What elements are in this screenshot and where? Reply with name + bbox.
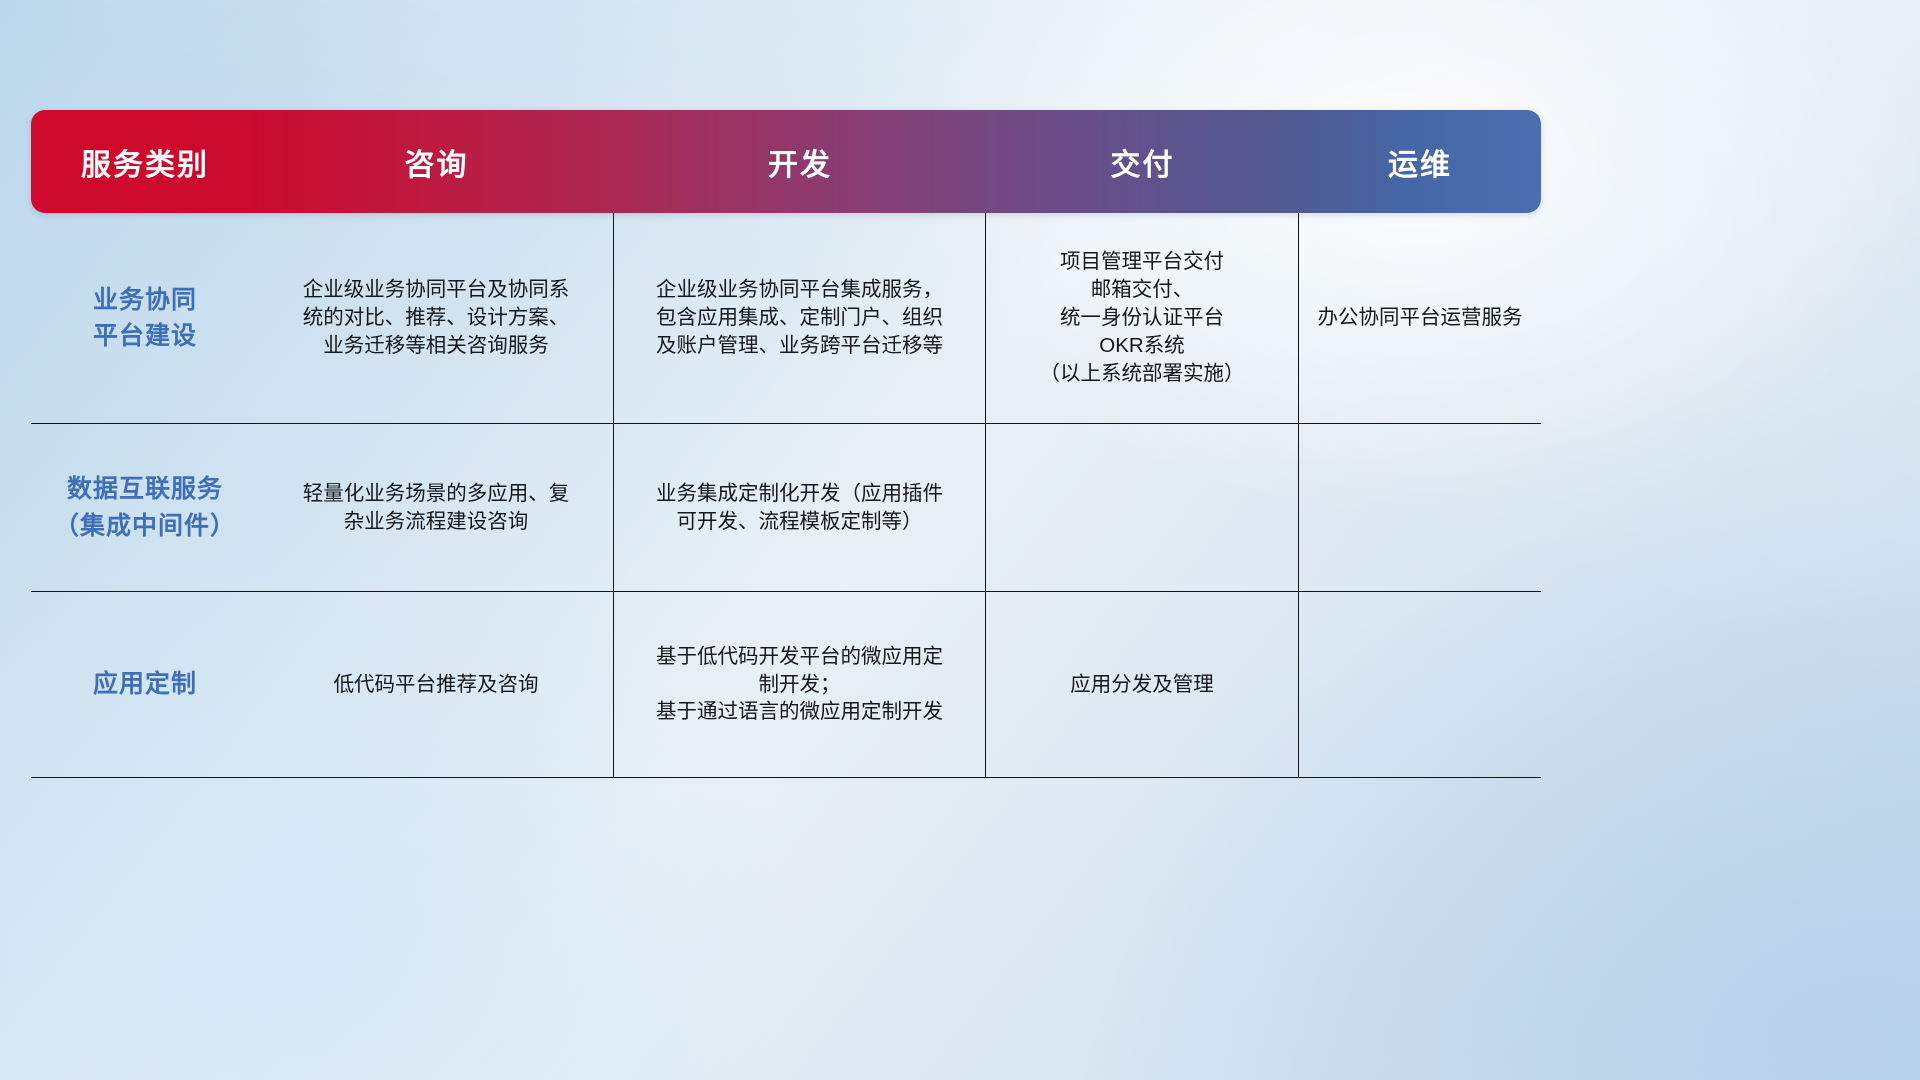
cell-text: 业务集成定制化开发（应用插件可开发、流程模板定制等）	[656, 480, 943, 536]
cell-text: 企业级业务协同平台集成服务，包含应用集成、定制门户、组织及账户管理、业务跨平台迁…	[656, 276, 943, 360]
cell-row3-delivery: 应用分发及管理	[986, 592, 1299, 777]
row-label-text: 数据互联服务（集成中间件）	[54, 471, 236, 544]
cell-text: 低代码平台推荐及咨询	[334, 671, 539, 699]
table-row: 应用定制 低代码平台推荐及咨询 基于低代码开发平台的微应用定制开发；基于通过语言…	[31, 592, 1541, 778]
cell-text: 应用分发及管理	[1070, 671, 1214, 699]
cell-text: 办公协同平台运营服务	[1318, 304, 1523, 332]
column-header-operations: 运维	[1299, 110, 1541, 213]
column-header-consulting: 咨询	[259, 110, 614, 213]
row-label-business-collaboration: 业务协同平台建设	[31, 213, 259, 423]
cell-text: 轻量化业务场景的多应用、复杂业务流程建设咨询	[303, 480, 570, 536]
column-header-category-label: 服务类别	[81, 140, 209, 184]
cell-row1-development: 企业级业务协同平台集成服务，包含应用集成、定制门户、组织及账户管理、业务跨平台迁…	[614, 213, 986, 423]
cell-row2-operations	[1299, 424, 1541, 591]
column-header-consulting-label: 咨询	[405, 140, 469, 184]
cell-text: 企业级业务协同平台及协同系统的对比、推荐、设计方案、业务迁移等相关咨询服务	[303, 276, 570, 360]
cell-text: 项目管理平台交付邮箱交付、统一身份认证平台OKR系统（以上系统部署实施）	[1040, 248, 1245, 387]
cell-row3-development: 基于低代码开发平台的微应用定制开发；基于通过语言的微应用定制开发	[614, 592, 986, 777]
row-label-data-interconnect: 数据互联服务（集成中间件）	[31, 424, 259, 591]
cell-row3-operations	[1299, 592, 1541, 777]
cell-row1-consulting: 企业级业务协同平台及协同系统的对比、推荐、设计方案、业务迁移等相关咨询服务	[259, 213, 614, 423]
column-header-operations-label: 运维	[1388, 140, 1452, 184]
cell-row2-delivery	[986, 424, 1299, 591]
row-label-text: 业务协同平台建设	[93, 282, 197, 355]
cell-row2-development: 业务集成定制化开发（应用插件可开发、流程模板定制等）	[614, 424, 986, 591]
column-header-category: 服务类别	[31, 110, 259, 213]
cell-row3-consulting: 低代码平台推荐及咨询	[259, 592, 614, 777]
cell-row1-operations: 办公协同平台运营服务	[1299, 213, 1541, 423]
row-label-application-customization: 应用定制	[31, 592, 259, 777]
cell-row2-consulting: 轻量化业务场景的多应用、复杂业务流程建设咨询	[259, 424, 614, 591]
cell-text: 基于低代码开发平台的微应用定制开发；基于通过语言的微应用定制开发	[656, 643, 943, 727]
cell-row1-delivery: 项目管理平台交付邮箱交付、统一身份认证平台OKR系统（以上系统部署实施）	[986, 213, 1299, 423]
table-row: 业务协同平台建设 企业级业务协同平台及协同系统的对比、推荐、设计方案、业务迁移等…	[31, 213, 1541, 424]
table-header-row: 服务类别 咨询 开发 交付 运维	[31, 110, 1541, 213]
row-label-text: 应用定制	[93, 666, 197, 702]
table-row: 数据互联服务（集成中间件） 轻量化业务场景的多应用、复杂业务流程建设咨询 业务集…	[31, 424, 1541, 592]
column-header-development-label: 开发	[768, 140, 832, 184]
table-body: 业务协同平台建设 企业级业务协同平台及协同系统的对比、推荐、设计方案、业务迁移等…	[31, 213, 1541, 775]
service-matrix-table: 服务类别 咨询 开发 交付 运维 业务协同平台建设 企业级业务协同平台及协同系统…	[31, 110, 1541, 775]
column-header-development: 开发	[614, 110, 986, 213]
column-header-delivery: 交付	[986, 110, 1299, 213]
column-header-delivery-label: 交付	[1111, 140, 1175, 184]
service-matrix-table-wrapper: 服务类别 咨询 开发 交付 运维 业务协同平台建设 企业级业务协同平台及协同系统…	[31, 110, 1541, 775]
